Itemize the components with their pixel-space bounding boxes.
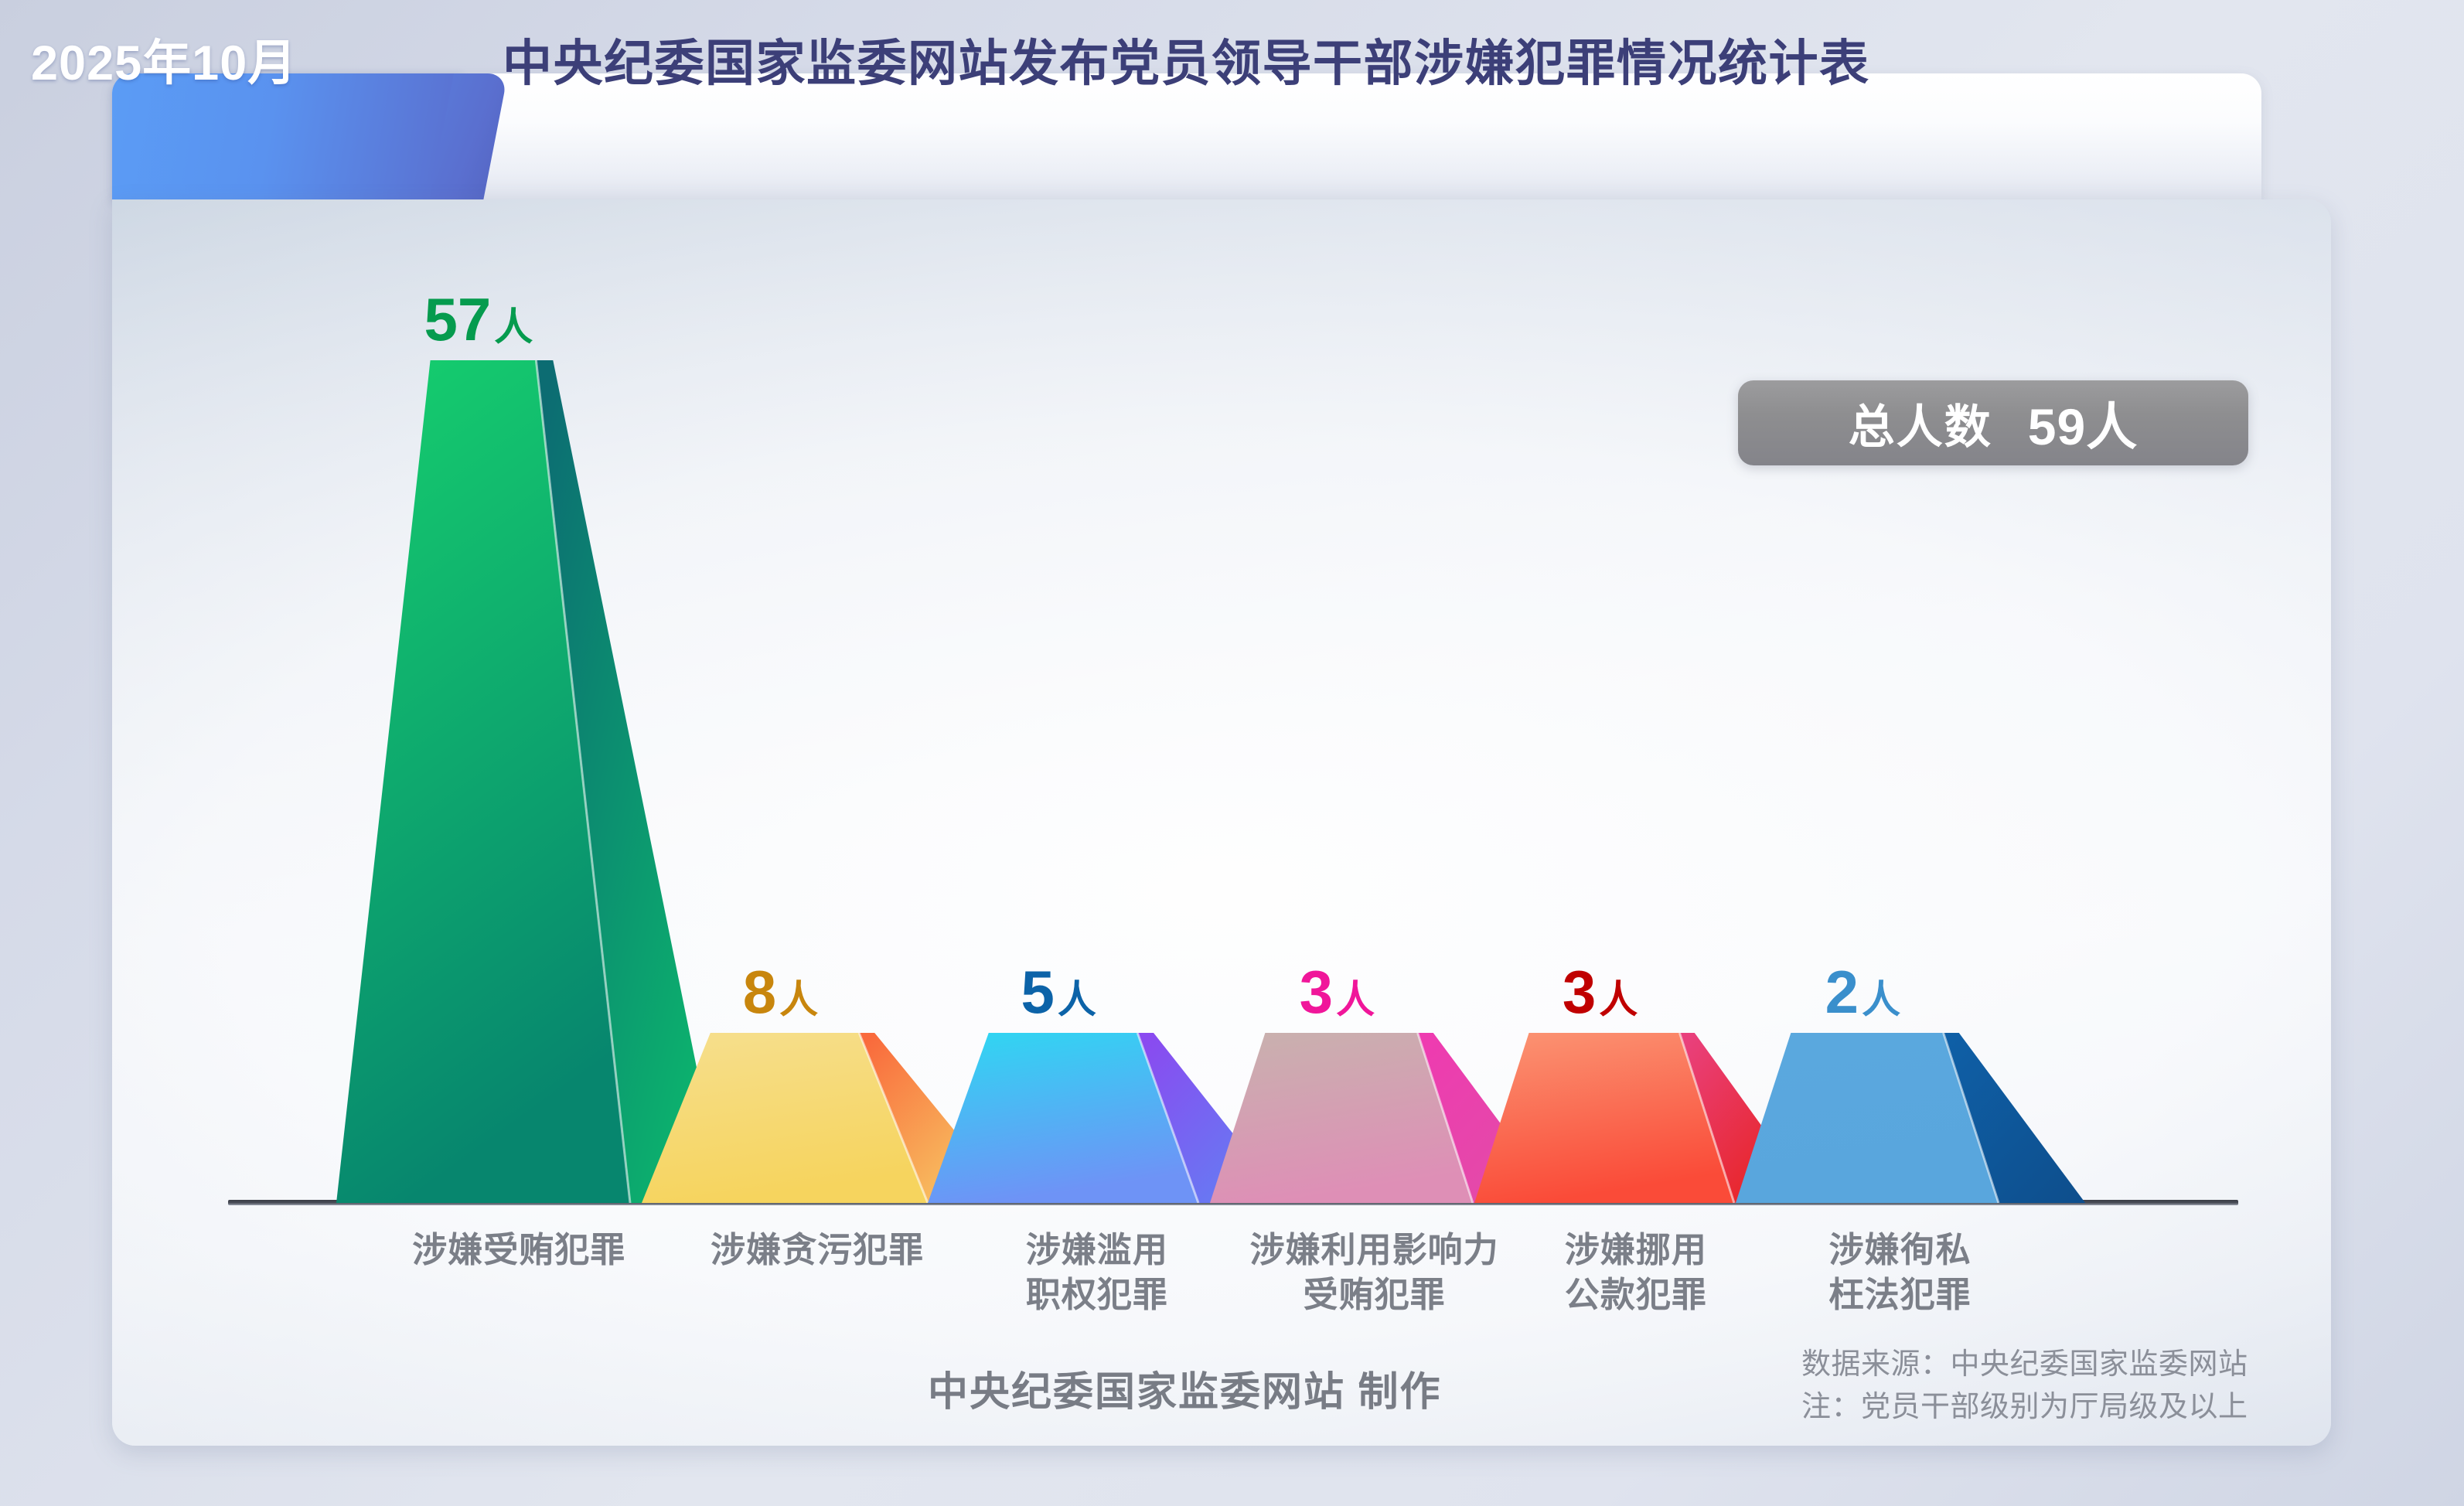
bar-value-label: 2人 xyxy=(1825,962,1900,1022)
bar-value-number: 3 xyxy=(1300,958,1333,1026)
page-title: 中央纪委国家监委网站发布党员领导干部涉嫌犯罪情况统计表 xyxy=(503,0,1870,128)
bar-value-label: 8人 xyxy=(743,962,818,1022)
category-label: 涉嫌贪污犯罪 xyxy=(711,1228,924,1273)
bar-value-unit: 人 xyxy=(1058,978,1096,1021)
bar-value-label: 3人 xyxy=(1563,962,1638,1022)
bar-chart: 57人 8人 xyxy=(112,199,2331,1446)
maker-credit: 中央纪委国家监委网站 制作 xyxy=(928,1359,1441,1417)
footnotes: 数据来源：中央纪委国家监委网站 注：党员干部级别为厅局级及以上 xyxy=(1801,1344,2248,1429)
category-label: 涉嫌挪用 公款犯罪 xyxy=(1565,1228,1707,1317)
infographic-root: 2025年10月 中央纪委国家监委网站发布党员领导干部涉嫌犯罪情况统计表 总人数… xyxy=(0,0,2464,1506)
category-label: 涉嫌徇私 枉法犯罪 xyxy=(1829,1228,1972,1317)
bar-value-number: 5 xyxy=(1021,958,1055,1026)
level-note: 注：党员干部级别为厅局级及以上 xyxy=(1801,1386,2248,1429)
data-source-note: 数据来源：中央纪委国家监委网站 xyxy=(1801,1344,2248,1386)
bar-shape xyxy=(1733,1030,2088,1203)
bar-value-unit: 人 xyxy=(779,978,818,1021)
bar-value-unit: 人 xyxy=(1336,978,1375,1021)
bar-value-label: 3人 xyxy=(1300,962,1375,1022)
bar-value-number: 57 xyxy=(424,285,492,353)
bar-value-label: 5人 xyxy=(1021,962,1096,1022)
bar-value-unit: 人 xyxy=(494,305,533,349)
bar-value-unit: 人 xyxy=(1862,978,1900,1021)
period-tab-label: 2025年10月 xyxy=(31,0,297,128)
bar-value-number: 8 xyxy=(743,958,776,1026)
bar-value-label: 57人 xyxy=(424,289,533,349)
category-label: 涉嫌滥用 职权犯罪 xyxy=(1026,1228,1168,1317)
category-label: 涉嫌利用影响力 受贿犯罪 xyxy=(1250,1228,1499,1317)
bar-item[interactable]: 2人 xyxy=(1733,1030,2088,1203)
category-label: 涉嫌受贿犯罪 xyxy=(412,1228,625,1273)
bar-value-unit: 人 xyxy=(1599,978,1638,1021)
bar-value-number: 2 xyxy=(1825,958,1859,1026)
bar-value-number: 3 xyxy=(1563,958,1596,1026)
